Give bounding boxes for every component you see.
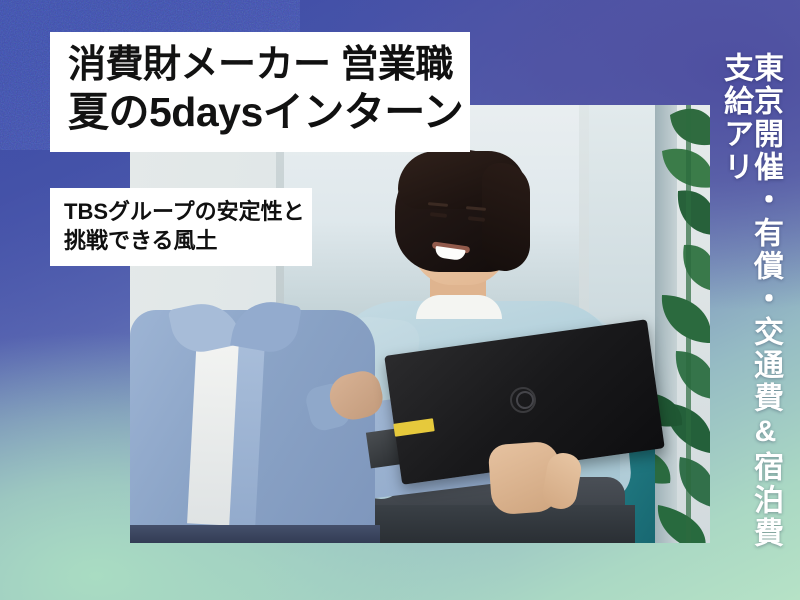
- subtitle-line-1: TBSグループの安定性と: [64, 197, 302, 226]
- subtitle-line-2: 挑戦できる風土: [64, 226, 302, 255]
- person-right-hair-side: [482, 163, 530, 271]
- title-line-2: 夏の5daysインターン: [68, 89, 454, 136]
- title-box: 消費財メーカー 営業職 夏の5daysインターン: [50, 32, 470, 152]
- person-right-undershirt: [416, 295, 502, 319]
- person-left-trousers: [130, 525, 380, 543]
- poster-canvas: 消費財メーカー 営業職 夏の5daysインターン TBSグループの安定性と 挑戦…: [0, 0, 800, 600]
- vertical-banner-text: 東京開催・有償・交通費&宿泊費支給アリ: [720, 52, 780, 552]
- hero-photo: [130, 105, 710, 543]
- title-line-1: 消費財メーカー 営業職: [68, 44, 454, 87]
- subtitle-box: TBSグループの安定性と 挑戦できる風土: [50, 188, 312, 266]
